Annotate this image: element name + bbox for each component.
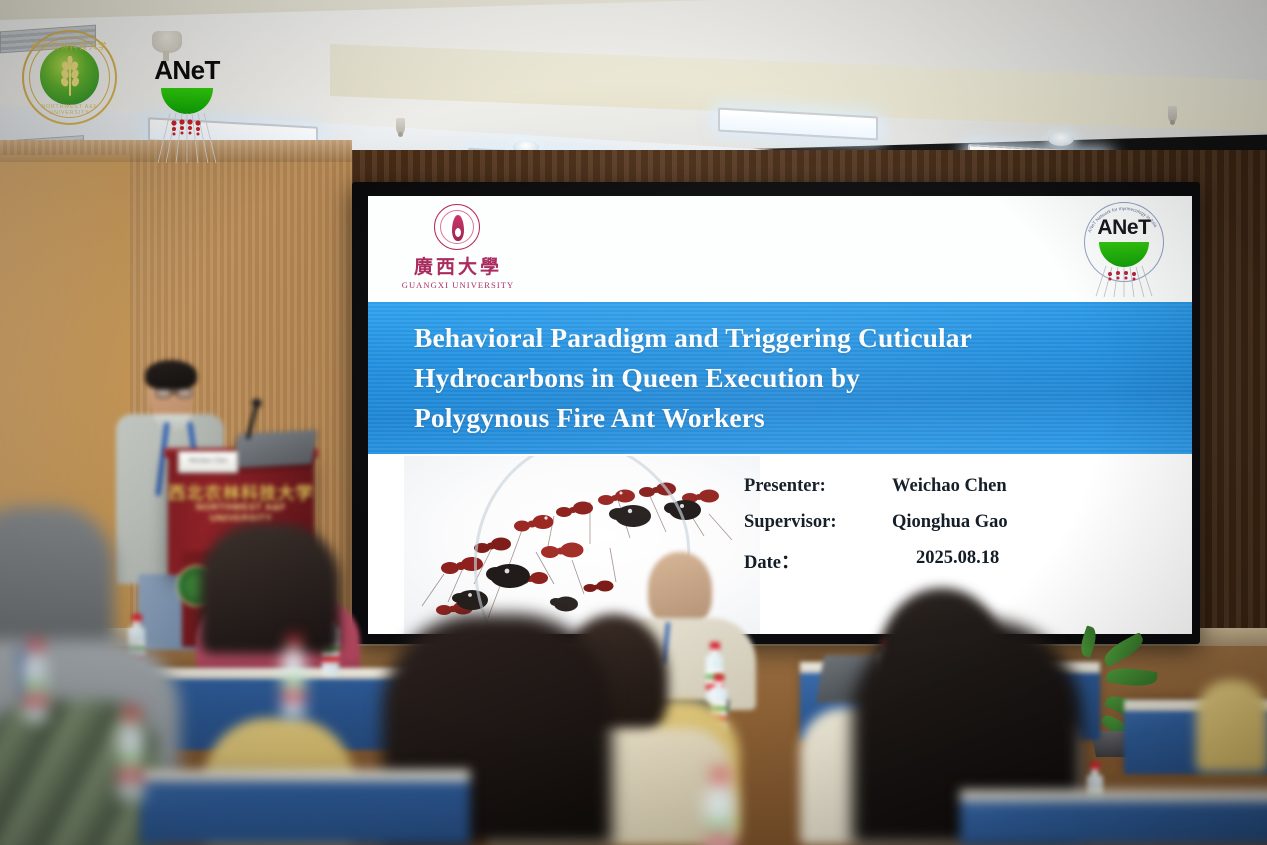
seal-chinese-name: 西北农林科技大学	[22, 40, 117, 52]
supervisor-label: Supervisor:	[744, 512, 837, 533]
slide-body: Presenter: Weichao Chen Supervisor: Qion…	[368, 454, 1192, 634]
gxu-flame-icon	[452, 215, 464, 241]
gxu-seal-icon	[434, 204, 480, 250]
presenter-label: Presenter:	[744, 476, 826, 497]
slide-title-line-2: Hydrocarbons in Queen Execution by	[414, 358, 1154, 398]
plant-leaf	[1106, 665, 1158, 689]
bottle-label	[706, 815, 733, 845]
info-row-date: Date： 2025.08.18	[744, 548, 1184, 584]
podium-english-name: NORTHWEST A&F UNIVERSITY	[168, 502, 314, 524]
ceiling-downlight-2	[1048, 132, 1074, 146]
date-value: 2025.08.18	[916, 548, 999, 569]
bottle-label	[282, 674, 305, 701]
audience-table-foreground-right	[960, 790, 1267, 845]
bottle-label	[24, 678, 47, 705]
sprinkler-head-1	[396, 118, 405, 134]
table-surface	[960, 790, 1267, 801]
watermark-anet-ants-icon	[156, 111, 218, 165]
name-card-text: Weichao Chen	[179, 457, 237, 464]
anet-ants-icon	[1094, 264, 1154, 298]
watermark-anet-wordmark: ANeT	[148, 55, 226, 86]
audience-head-back-center	[648, 552, 712, 628]
bottle-label	[118, 750, 144, 780]
slide-title-line-1: Behavioral Paradigm and Triggering Cutic…	[414, 318, 1154, 358]
anet-wordmark: ANeT	[1078, 216, 1170, 240]
gxu-english-name: GUANGXI UNIVERSITY	[398, 280, 518, 290]
table-surface	[140, 770, 470, 781]
guangxi-university-logo: 廣西大學 GUANGXI UNIVERSITY	[398, 204, 518, 296]
speaker-hair	[145, 360, 197, 390]
info-row-supervisor: Supervisor: Qionghua Gao	[744, 512, 1184, 548]
gxu-chinese-name: 廣西大學	[398, 252, 518, 279]
slide-title-line-3: Polygynous Fire Ant Workers	[414, 398, 1154, 438]
seal-english-name: NORTHWEST A&F UNIVERSITY	[22, 104, 117, 116]
supervisor-value: Qionghua Gao	[892, 512, 1008, 533]
glasses-icon	[156, 388, 193, 399]
date-label: Date：	[744, 548, 799, 574]
speaker-name-card: Weichao Chen	[178, 451, 238, 473]
smoke-detector-icon	[152, 31, 182, 53]
presenter-value: Weichao Chen	[892, 476, 1007, 497]
watermark-university-seal: 西北农林科技大学 NORTHWEST A&F UNIVERSITY	[22, 30, 117, 125]
presentation-slide: 廣西大學 GUANGXI UNIVERSITY ANeT Network for…	[368, 196, 1192, 634]
info-row-presenter: Presenter: Weichao Chen	[744, 476, 1184, 512]
podium-chinese-name: 西北农林科技大学	[168, 479, 314, 504]
presenter-info-block: Presenter: Weichao Chen Supervisor: Qion…	[744, 476, 1184, 584]
slide-title-band: Behavioral Paradigm and Triggering Cutic…	[368, 302, 1192, 454]
slide-title: Behavioral Paradigm and Triggering Cutic…	[414, 318, 1154, 438]
slide-header: 廣西大學 GUANGXI UNIVERSITY ANeT Network for…	[368, 196, 1192, 302]
audience-chair-right	[1196, 680, 1267, 772]
watermark-anet-logo: ANeT	[148, 55, 226, 165]
sprinkler-head-2	[1168, 106, 1177, 122]
audience-person-row2-dark	[200, 524, 340, 654]
anet-logo: ANeT Network for myrmecology in Asia ANe…	[1078, 200, 1170, 296]
wheat-icon	[60, 56, 80, 98]
presentation-photo-scene: 廣西大學 GUANGXI UNIVERSITY ANeT Network for…	[0, 0, 1267, 845]
audience-table-foreground-left	[140, 770, 470, 845]
